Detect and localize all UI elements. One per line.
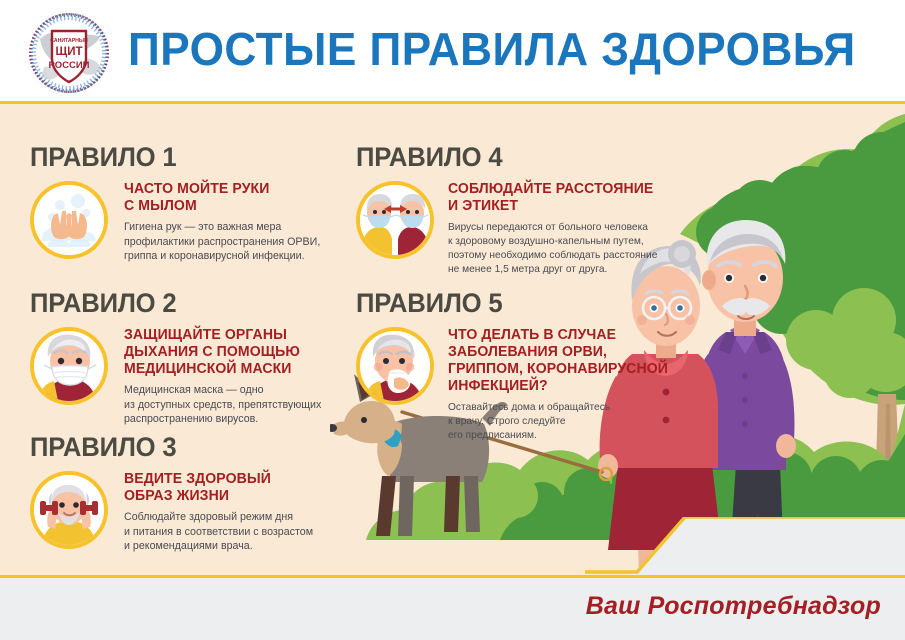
dumbbell-exercise-icon (30, 471, 108, 549)
rule-3-heading: ПРАВИЛО 3 (30, 432, 315, 463)
page-title: ПРОСТЫЕ ПРАВИЛА ЗДОРОВЬЯ (128, 22, 856, 76)
poster-header: САНИТАРНЫЙ ЩИТ РОССИИ ПРОСТЫЕ ПРАВИЛА ЗД… (0, 0, 905, 104)
person-wearing-mask-icon (30, 327, 108, 405)
rule-1-title: ЧАСТО МОЙТЕ РУКИ С МЫЛОМ (124, 181, 324, 215)
rule-2-title: ЗАЩИЩАЙТЕ ОРГАНЫ ДЫХАНИЯ С ПОМОЩЬЮ МЕДИЦ… (124, 327, 324, 378)
logo-line2: ЩИТ (55, 46, 82, 58)
rule-4-heading: ПРАВИЛО 4 (356, 142, 660, 173)
logo-line1: САНИТАРНЫЙ (50, 36, 88, 44)
rule-5-heading: ПРАВИЛО 5 (356, 288, 660, 319)
rule-block-4: ПРАВИЛО 4 (356, 142, 676, 276)
rule-block-5: ПРАВИЛО 5 (356, 288, 676, 442)
rule-4-description: Вирусы передаются от больного человека к… (448, 220, 669, 276)
rule-4-title: СОБЛЮДАЙТЕ РАССТОЯНИЕ И ЭТИКЕТ (448, 181, 669, 215)
footer-brand: Ваш Роспотребнадзор (586, 592, 881, 621)
rule-block-3: ПРАВИЛО 3 (30, 432, 330, 554)
rule-2-description: Медицинская маска — одно из доступных ср… (124, 383, 324, 427)
coughing-into-tissue-icon (356, 327, 434, 405)
rule-1-description: Гигиена рук — это важная мера профилакти… (124, 220, 324, 264)
rule-block-2: ПРАВИЛО 2 (30, 288, 330, 427)
social-distance-icon (356, 181, 434, 259)
poster-body: ПРАВИЛО 1 (0, 104, 905, 578)
sanitary-shield-of-russia-logo: САНИТАРНЫЙ ЩИТ РОССИИ (22, 9, 116, 97)
poster-footer: Ваш Роспотребнадзор (0, 578, 905, 640)
logo-line3: РОССИИ (49, 60, 90, 71)
rule-3-title: ВЕДИТЕ ЗДОРОВЫЙ ОБРАЗ ЖИЗНИ (124, 471, 324, 505)
rule-5-description: Оставайтесь дома и обращайтесь к врачу. … (448, 400, 669, 442)
washing-hands-icon (30, 181, 108, 259)
rule-1-heading: ПРАВИЛО 1 (30, 142, 315, 173)
rule-2-heading: ПРАВИЛО 2 (30, 288, 315, 319)
rule-5-title: ЧТО ДЕЛАТЬ В СЛУЧАЕ ЗАБОЛЕВАНИЯ ОРВИ, ГР… (448, 327, 669, 395)
rule-block-1: ПРАВИЛО 1 (30, 142, 330, 264)
rule-3-description: Соблюдайте здоровый режим дня и питания … (124, 510, 324, 554)
health-rules-poster: САНИТАРНЫЙ ЩИТ РОССИИ ПРОСТЫЕ ПРАВИЛА ЗД… (0, 0, 905, 640)
